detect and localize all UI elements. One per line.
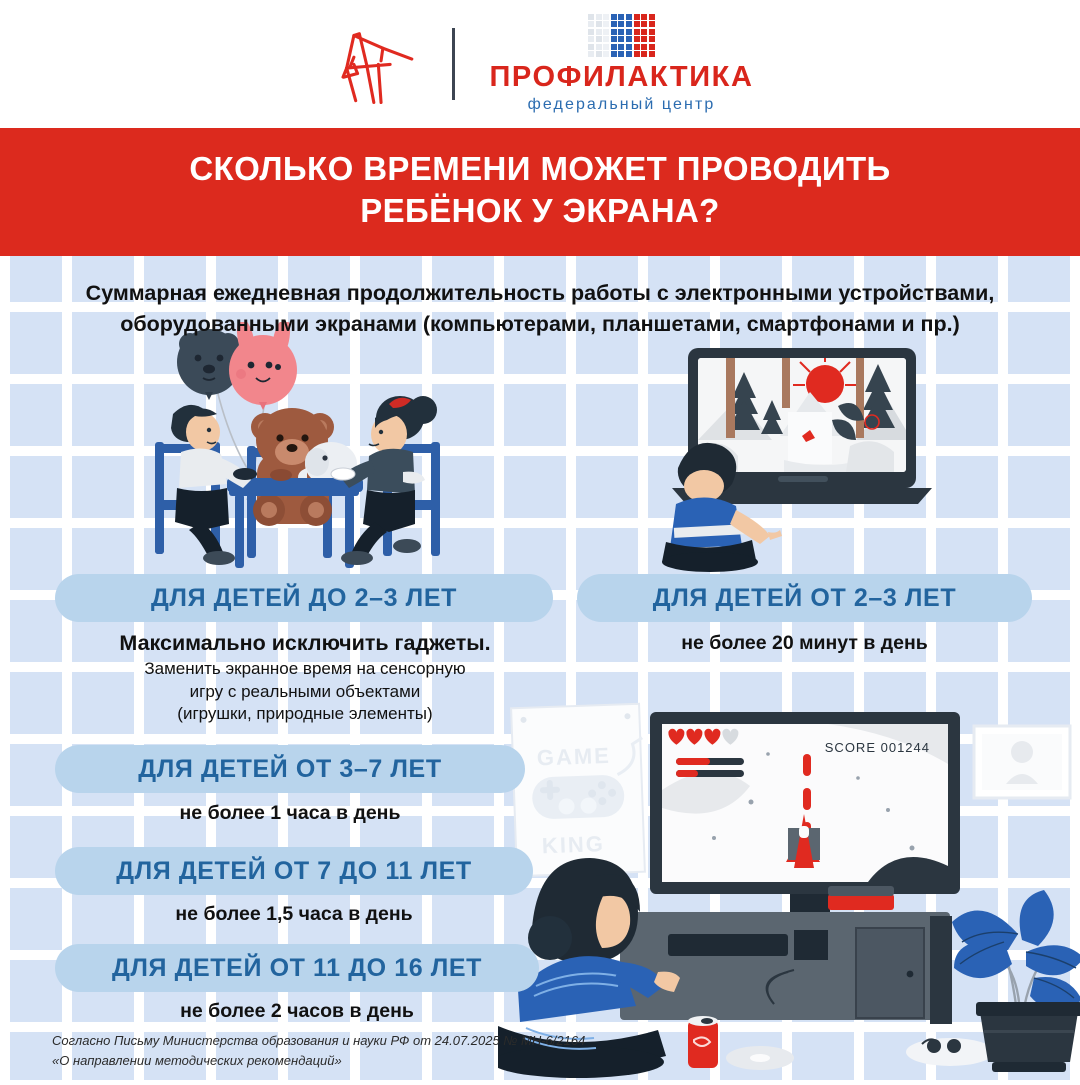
tv-screen: SCORE 001244 xyxy=(650,712,960,914)
source-footnote-line-2: «О направлении методических рекомендаций… xyxy=(52,1051,772,1071)
children-tea-party-illustration xyxy=(135,322,465,572)
age-group-note-4-text: не более 2 часов в день xyxy=(55,1000,539,1023)
age-group-note-0-bold: Максимально исключить гаджеты. xyxy=(40,630,570,658)
teen-playing-video-game-illustration: GAME KING xyxy=(498,690,1080,1080)
page-subtitle-line-2: оборудованными экранами (компьютерами, п… xyxy=(120,312,960,336)
game-score-label: SCORE 001244 xyxy=(825,740,930,755)
age-group-note-4: не более 2 часов в день xyxy=(55,1000,539,1023)
logo-divider xyxy=(452,28,455,100)
source-footnote-line-1: Согласно Письму Министерства образования… xyxy=(52,1031,772,1051)
age-group-label-4: ДЛЯ ДЕТЕЙ ОТ 11 ДО 16 ЛЕТ xyxy=(112,954,482,983)
age-group-label-3: ДЛЯ ДЕТЕЙ ОТ 7 ДО 11 ЛЕТ xyxy=(116,857,472,886)
source-footnote: Согласно Письму Министерства образования… xyxy=(52,1031,772,1070)
age-group-note-1-text: не более 20 минут в день xyxy=(577,632,1032,655)
age-group-note-0-line-1: Заменить экранное время на сенсорную xyxy=(40,658,570,681)
page-subtitle: Суммарная ежедневная продолжительность р… xyxy=(0,256,1080,345)
age-group-label-0: ДЛЯ ДЕТЕЙ ДО 2–3 ЛЕТ xyxy=(151,584,457,613)
brand-lockup: ПРОФИЛАКТИКА федеральный центр xyxy=(489,14,753,115)
age-group-note-0-line-2: игру с реальными объектами xyxy=(40,681,570,704)
age-group-note-2: не более 1 часа в день xyxy=(55,802,525,825)
age-group-pill-2[interactable]: ДЛЯ ДЕТЕЙ ОТ 3–7 ЛЕТ xyxy=(55,745,525,793)
pixel-flag-icon xyxy=(588,14,655,58)
page-title-banner: СКОЛЬКО ВРЕМЕНИ МОЖЕТ ПРОВОДИТЬ РЕБЁНОК … xyxy=(0,128,1080,256)
age-group-pill-0[interactable]: ДЛЯ ДЕТЕЙ ДО 2–3 ЛЕТ xyxy=(55,574,553,622)
page-title-line-1: СКОЛЬКО ВРЕМЕНИ МОЖЕТ ПРОВОДИТЬ xyxy=(189,150,890,187)
age-group-note-0: Максимально исключить гаджеты. Заменить … xyxy=(40,630,570,726)
brand-name: ПРОФИЛАКТИКА xyxy=(489,63,753,92)
brand-subtitle: федеральный центр xyxy=(528,96,716,114)
age-group-label-1: ДЛЯ ДЕТЕЙ ОТ 2–3 ЛЕТ xyxy=(653,584,956,613)
chair-outline-icon xyxy=(326,21,418,107)
tv-stand xyxy=(620,886,952,1024)
age-group-pill-1[interactable]: ДЛЯ ДЕТЕЙ ОТ 2–3 ЛЕТ xyxy=(577,574,1032,622)
age-group-note-2-text: не более 1 часа в день xyxy=(55,802,525,825)
game-poster-line-2: KING xyxy=(541,831,605,858)
game-poster-line-1: GAME xyxy=(536,743,611,771)
age-group-note-1: не более 20 минут в день xyxy=(577,632,1032,655)
page-subtitle-line-1: Суммарная ежедневная продолжительность р… xyxy=(86,281,995,305)
age-group-note-0-line-3: (игрушки, природные элементы) xyxy=(40,703,570,726)
age-group-pill-3[interactable]: ДЛЯ ДЕТЕЙ ОТ 7 ДО 11 ЛЕТ xyxy=(55,847,533,895)
age-group-pill-4[interactable]: ДЛЯ ДЕТЕЙ ОТ 11 ДО 16 ЛЕТ xyxy=(55,944,539,992)
age-group-note-3: не более 1,5 часа в день xyxy=(55,903,533,926)
brand-header: ПРОФИЛАКТИКА федеральный центр xyxy=(0,0,1080,128)
gamepad-icon xyxy=(532,774,625,819)
game-king-poster: GAME KING xyxy=(511,704,647,876)
page-title-line-2: РЕБЁНОК У ЭКРАНА? xyxy=(360,192,720,229)
age-group-note-3-text: не более 1,5 часа в день xyxy=(55,903,533,926)
toddler-watching-laptop-illustration xyxy=(660,340,950,575)
age-group-label-2: ДЛЯ ДЕТЕЙ ОТ 3–7 ЛЕТ xyxy=(138,755,441,784)
slippers-icon xyxy=(906,1038,994,1066)
wall-picture-frame xyxy=(974,726,1070,798)
